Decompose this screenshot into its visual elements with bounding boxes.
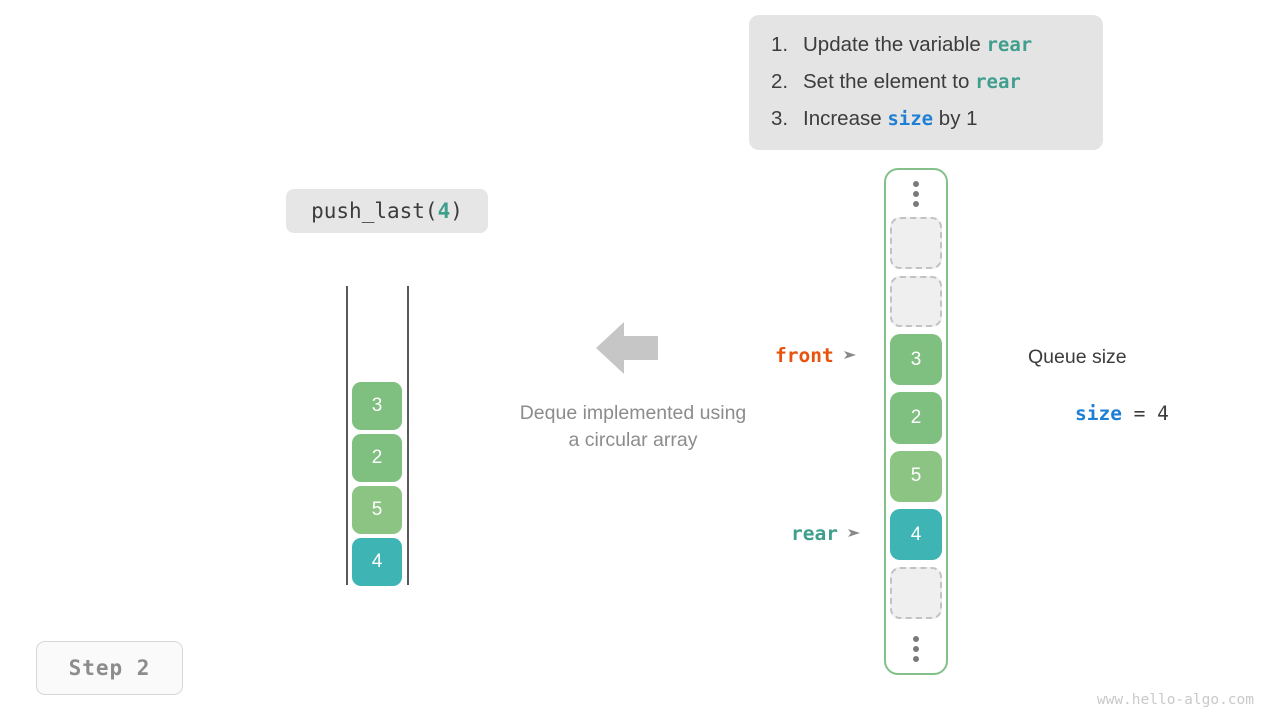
array-slot-filled: 2 bbox=[890, 392, 942, 443]
deque-cell-stack: 3 2 5 4 bbox=[352, 378, 402, 586]
queue-size-title: Queue size bbox=[1028, 344, 1208, 370]
instruction-text: Increase bbox=[803, 107, 887, 131]
instruction-code-token: rear bbox=[986, 34, 1032, 56]
instruction-text: Update the variable bbox=[803, 33, 986, 57]
deque-diagram: 3 2 5 4 bbox=[340, 284, 416, 588]
array-slot-value: 2 bbox=[911, 407, 922, 429]
deque-cell: 5 bbox=[352, 486, 402, 534]
operation-label: push_last(4) bbox=[286, 189, 488, 233]
instruction-number: 1. bbox=[771, 33, 803, 57]
operation-argument: 4 bbox=[438, 199, 451, 223]
instruction-text: Set the element to bbox=[803, 70, 975, 94]
instruction-item: 1. Update the variable rear bbox=[771, 33, 1077, 70]
deque-cell: 2 bbox=[352, 434, 402, 482]
deque-caption: Deque implemented using a circular array bbox=[478, 400, 788, 454]
instruction-text-tail: by 1 bbox=[933, 107, 977, 131]
deque-cell-value: 4 bbox=[372, 551, 383, 573]
queue-size-expression: size = 4 bbox=[1028, 379, 1208, 448]
array-slot-filled: 5 bbox=[890, 451, 942, 502]
queue-size-info: Queue size size = 4 bbox=[1028, 344, 1208, 448]
array-slot-filled-new: 4 bbox=[890, 509, 942, 560]
ellipsis-vertical-icon-top bbox=[913, 170, 919, 217]
watermark: www.hello-algo.com bbox=[1097, 692, 1254, 708]
rear-pointer-label: rear bbox=[791, 522, 861, 545]
arrow-right-icon bbox=[847, 522, 861, 545]
deque-cell-value: 3 bbox=[372, 395, 383, 417]
operation-paren: ) bbox=[450, 199, 463, 223]
array-slot-value: 4 bbox=[911, 524, 922, 546]
array-slot-empty bbox=[890, 276, 942, 327]
ellipsis-vertical-icon-bottom bbox=[913, 626, 919, 673]
front-pointer-label: front bbox=[775, 344, 857, 367]
queue-size-variable: size bbox=[1075, 402, 1122, 425]
left-arrow-icon bbox=[596, 322, 658, 374]
operation-name: push_last( bbox=[311, 199, 437, 223]
instruction-panel: 1. Update the variable rear 2. Set the e… bbox=[749, 15, 1103, 150]
circular-array-container: 3 2 5 4 bbox=[884, 168, 948, 675]
deque-cell-value: 5 bbox=[372, 499, 383, 521]
array-slot-empty bbox=[890, 567, 942, 618]
queue-size-operator: = bbox=[1122, 402, 1157, 425]
deque-rail-left bbox=[346, 286, 348, 585]
array-slot-value: 5 bbox=[911, 465, 922, 487]
array-slot-filled: 3 bbox=[890, 334, 942, 385]
deque-cell: 3 bbox=[352, 382, 402, 430]
arrow-right-icon bbox=[843, 344, 857, 367]
deque-cell: 4 bbox=[352, 538, 402, 586]
instruction-code-token: size bbox=[887, 108, 933, 130]
step-badge-label: Step 2 bbox=[69, 656, 151, 680]
rear-pointer-text: rear bbox=[791, 522, 838, 545]
deque-rail-right bbox=[407, 286, 409, 585]
instruction-item: 3. Increase size by 1 bbox=[771, 107, 1077, 144]
deque-cell-value: 2 bbox=[372, 447, 383, 469]
instruction-item: 2. Set the element to rear bbox=[771, 70, 1077, 107]
array-slot-value: 3 bbox=[911, 349, 922, 371]
front-pointer-text: front bbox=[775, 344, 834, 367]
queue-size-value: 4 bbox=[1157, 402, 1169, 425]
instruction-number: 2. bbox=[771, 70, 803, 94]
instruction-code-token: rear bbox=[975, 71, 1021, 93]
array-slot-empty bbox=[890, 217, 942, 268]
instruction-number: 3. bbox=[771, 107, 803, 131]
caption-line-1: Deque implemented using bbox=[478, 400, 788, 427]
step-badge: Step 2 bbox=[36, 641, 183, 695]
caption-line-2: a circular array bbox=[478, 427, 788, 454]
